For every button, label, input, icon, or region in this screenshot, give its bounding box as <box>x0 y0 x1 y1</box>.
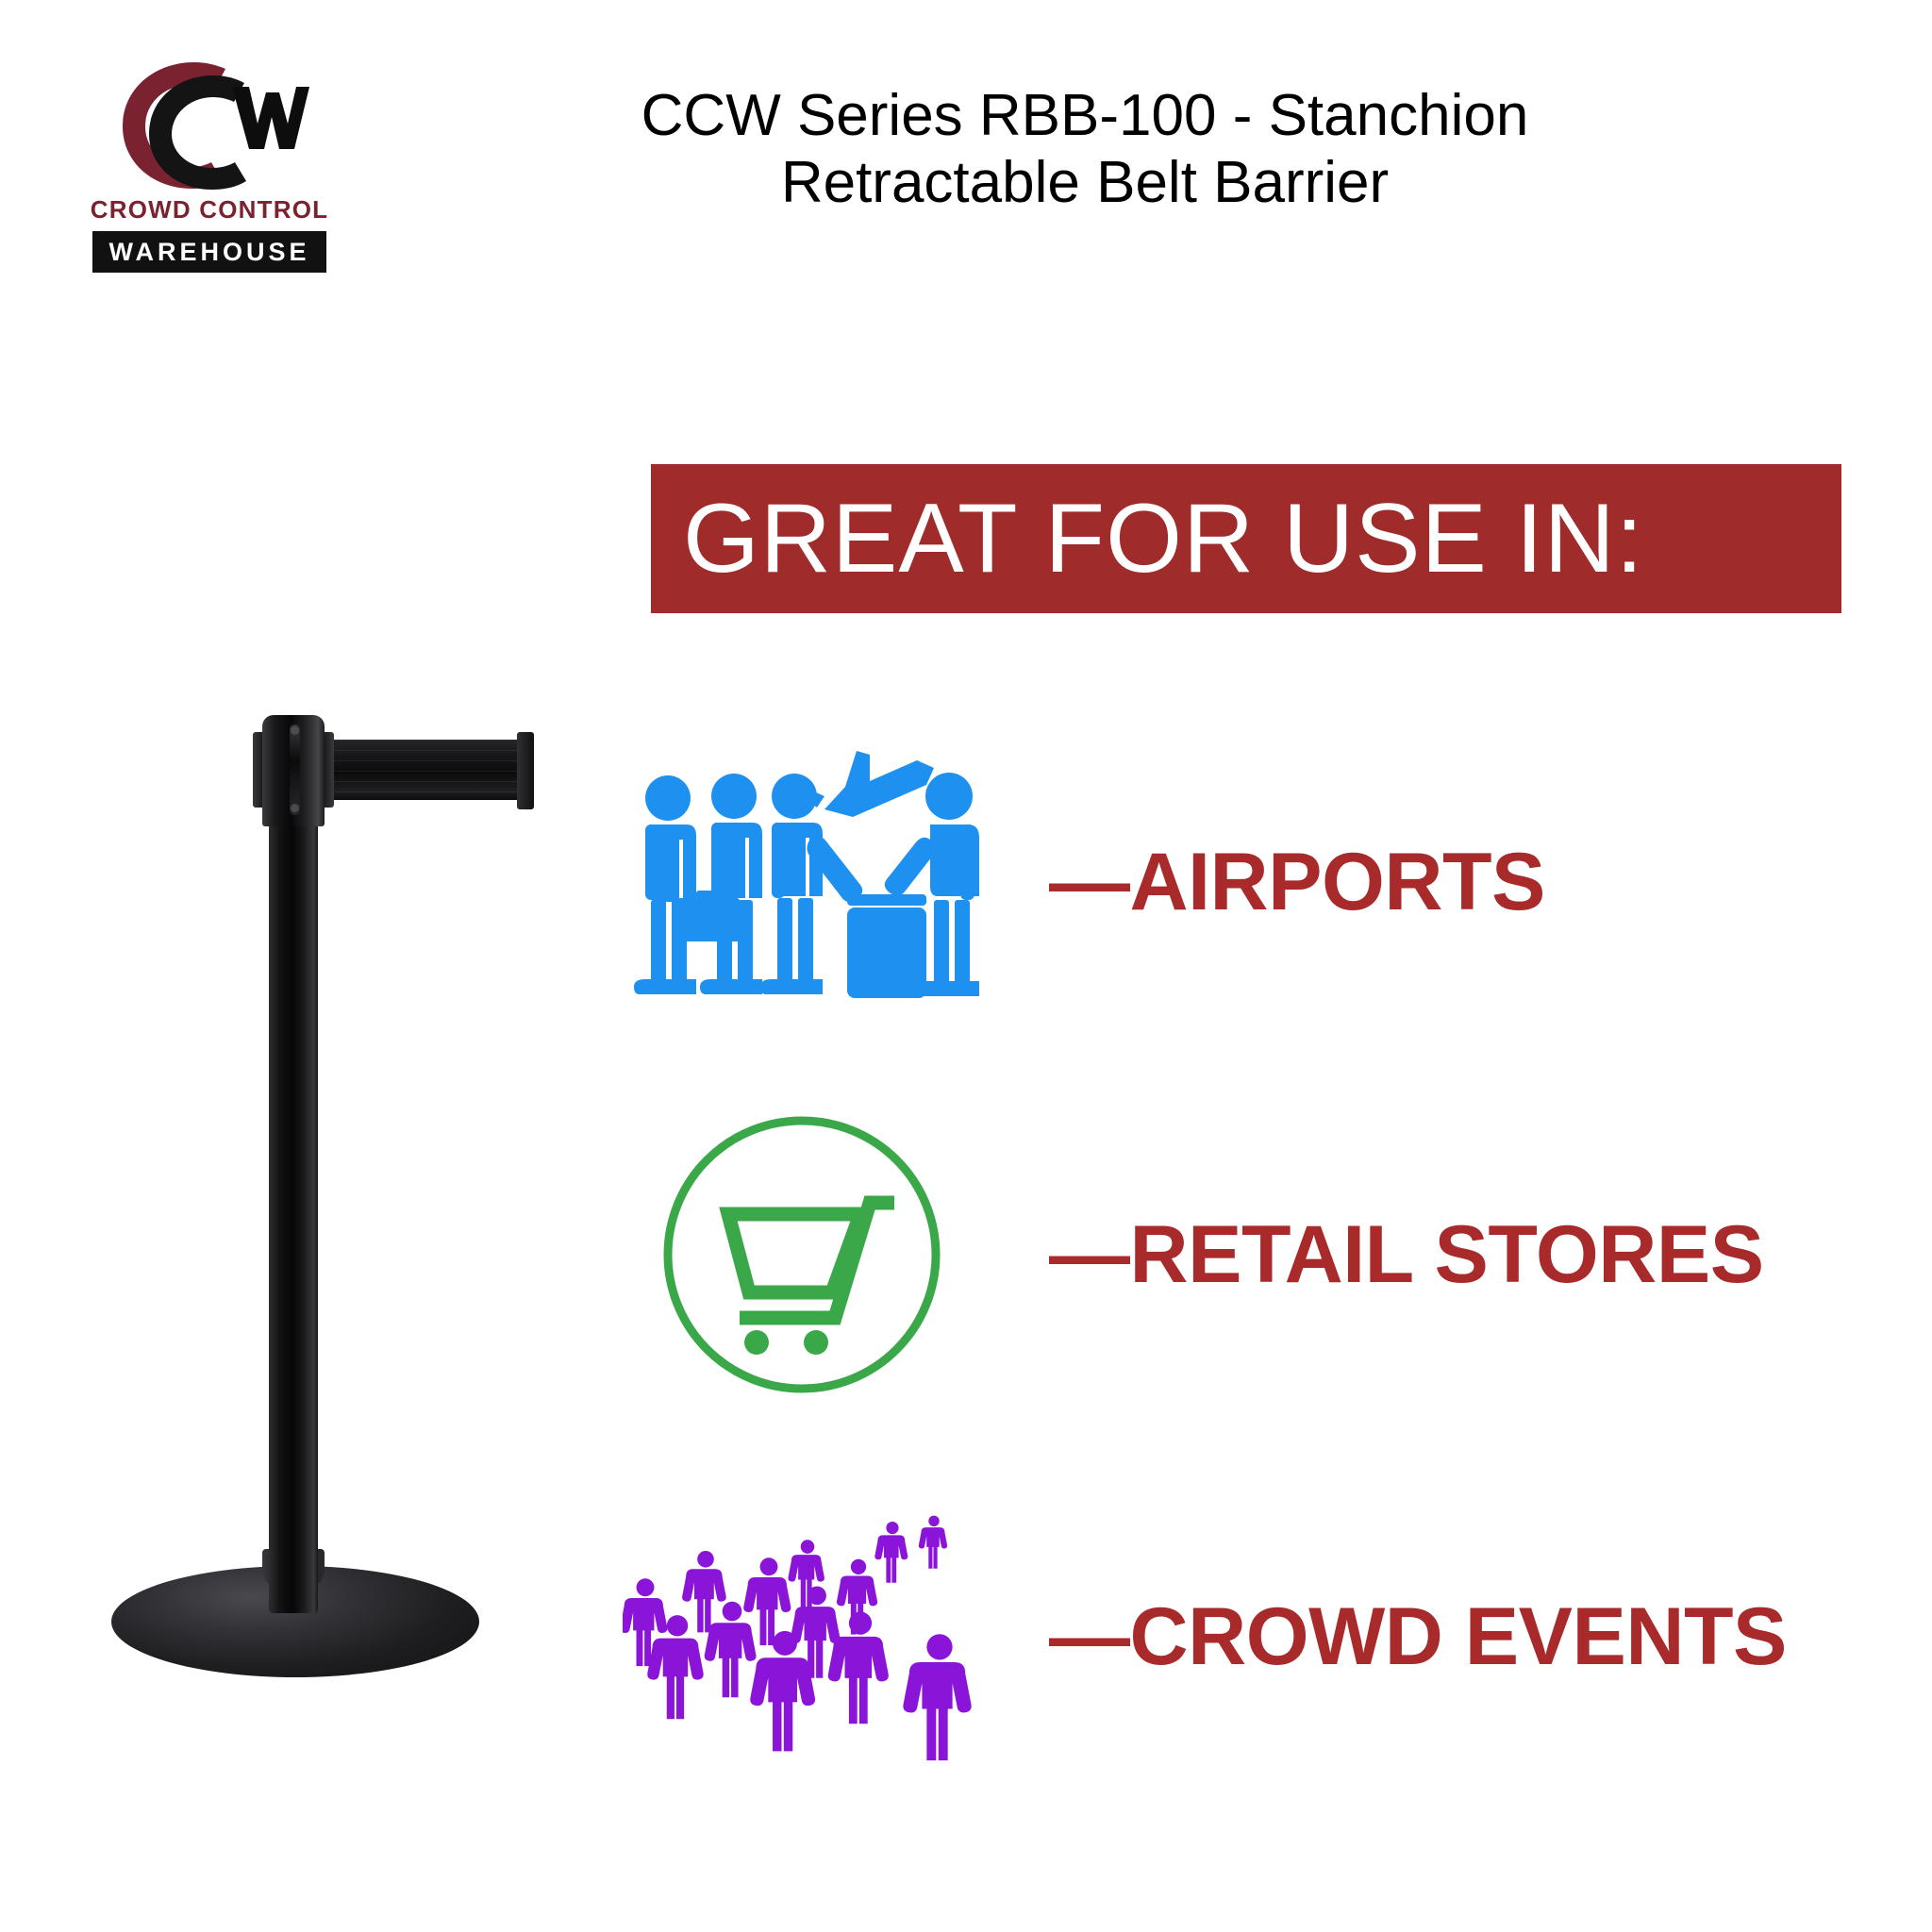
product-photo-stanchion <box>94 689 566 1689</box>
use-case-row-airports: —AIRPORTS <box>623 726 1545 1038</box>
use-case-row-retail-stores: —RETAIL STORES <box>623 1099 1764 1410</box>
great-for-use-in-banner: GREAT FOR USE IN: <box>651 464 1841 613</box>
use-case-label-airports: —AIRPORTS <box>1049 836 1545 929</box>
logo-wordmark-top: CROWD CONTROL <box>87 195 332 225</box>
stanchion-head-screw-bottom <box>291 804 299 812</box>
brand-logo: CROWD CONTROL WAREHOUSE <box>87 58 332 266</box>
crowd-people-icon <box>623 1481 1019 1792</box>
stanchion-post <box>269 745 318 1613</box>
cw-monogram-icon <box>111 58 309 192</box>
banner-label: GREAT FOR USE IN: <box>651 490 1644 588</box>
header: CROWD CONTROL WAREHOUSE CCW Series RBB-1… <box>0 0 1932 302</box>
use-case-label-crowd-events: —CROWD EVENTS <box>1049 1591 1787 1684</box>
shopping-cart-icon <box>623 1099 1019 1410</box>
stanchion-head-slot <box>290 724 300 815</box>
belt-end-clip <box>517 732 534 809</box>
use-case-label-retail-stores: —RETAIL STORES <box>1049 1208 1764 1302</box>
airport-queue-icon <box>623 726 1019 1038</box>
page-title: CCW Series RBB-100 - Stanchion Retractab… <box>443 83 1726 216</box>
stanchion-head-screw-top <box>291 726 299 735</box>
retractable-belt <box>328 740 522 800</box>
use-case-row-crowd-events: —CROWD EVENTS <box>623 1481 1787 1792</box>
logo-wordmark-bottom: WAREHOUSE <box>92 238 326 267</box>
